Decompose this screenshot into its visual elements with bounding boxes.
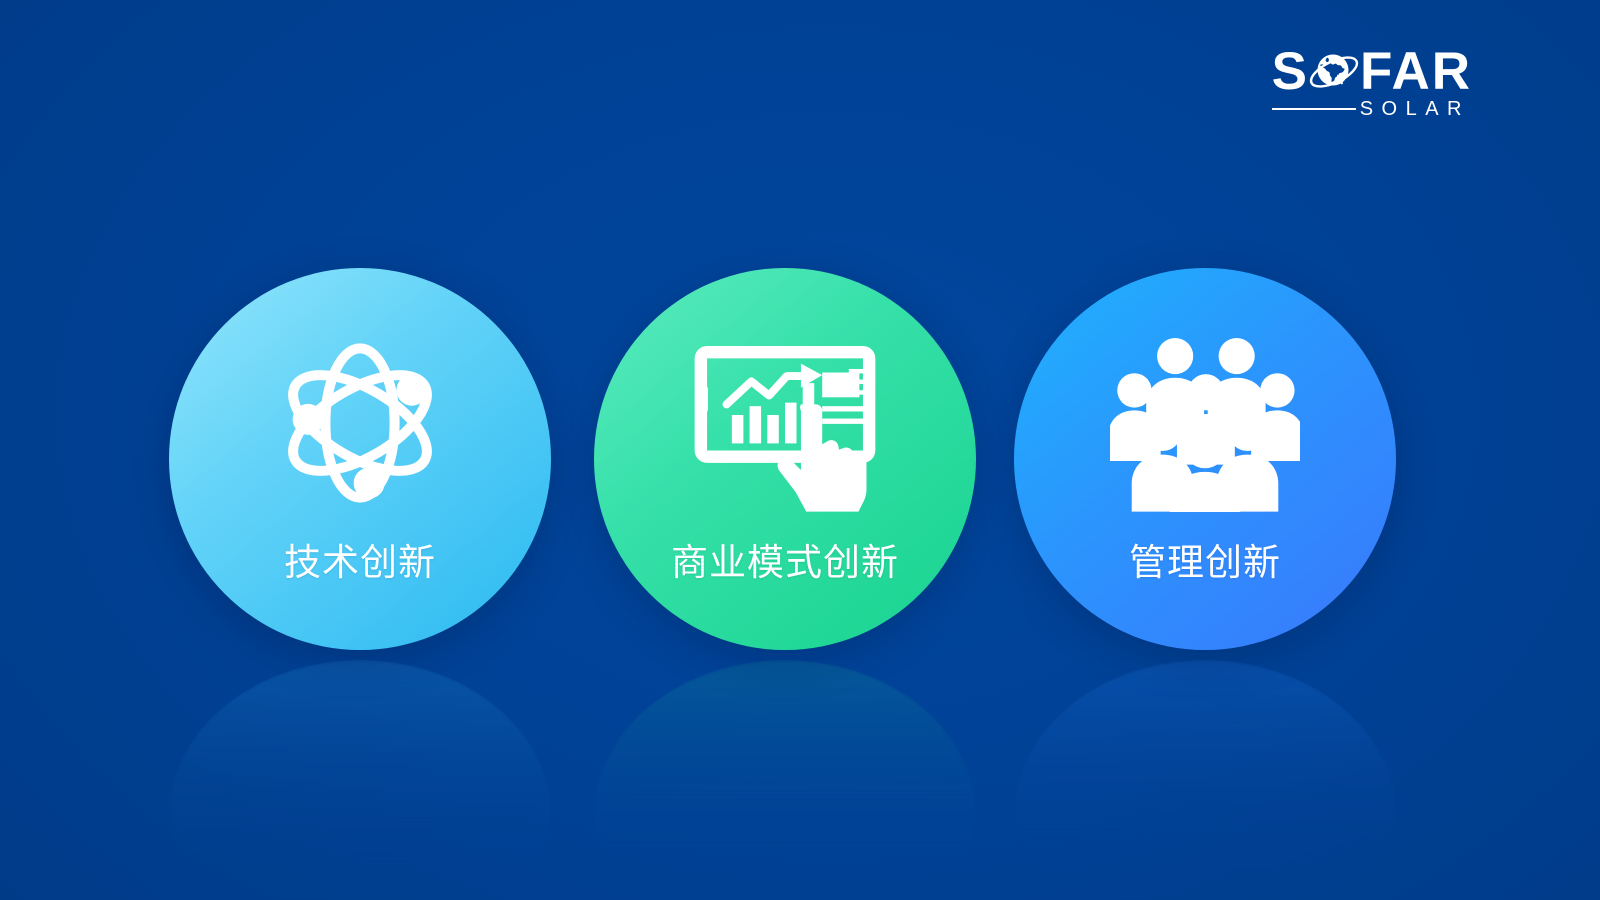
card-circle[interactable]: 管理创新 <box>1014 268 1396 650</box>
card-circle[interactable]: 商业模式创新 <box>594 268 976 650</box>
people-group-icon <box>1014 318 1396 528</box>
card-label: 商业模式创新 <box>671 532 899 586</box>
card-circle[interactable]: 技术创新 <box>169 268 551 650</box>
card-technology-innovation[interactable]: 技术创新 <box>169 268 551 650</box>
slide-canvas: S FAR SOLAR <box>0 0 1600 900</box>
card-label: 管理创新 <box>1129 532 1281 586</box>
card-business-model-innovation[interactable]: 商业模式创新 <box>594 268 976 650</box>
tablet-chart-touch-icon <box>594 318 976 528</box>
atom-icon <box>169 318 551 528</box>
card-label: 技术创新 <box>284 532 436 586</box>
card-management-innovation[interactable]: 管理创新 <box>1014 268 1396 650</box>
innovation-cards-row: 技术创新 <box>0 0 1600 900</box>
